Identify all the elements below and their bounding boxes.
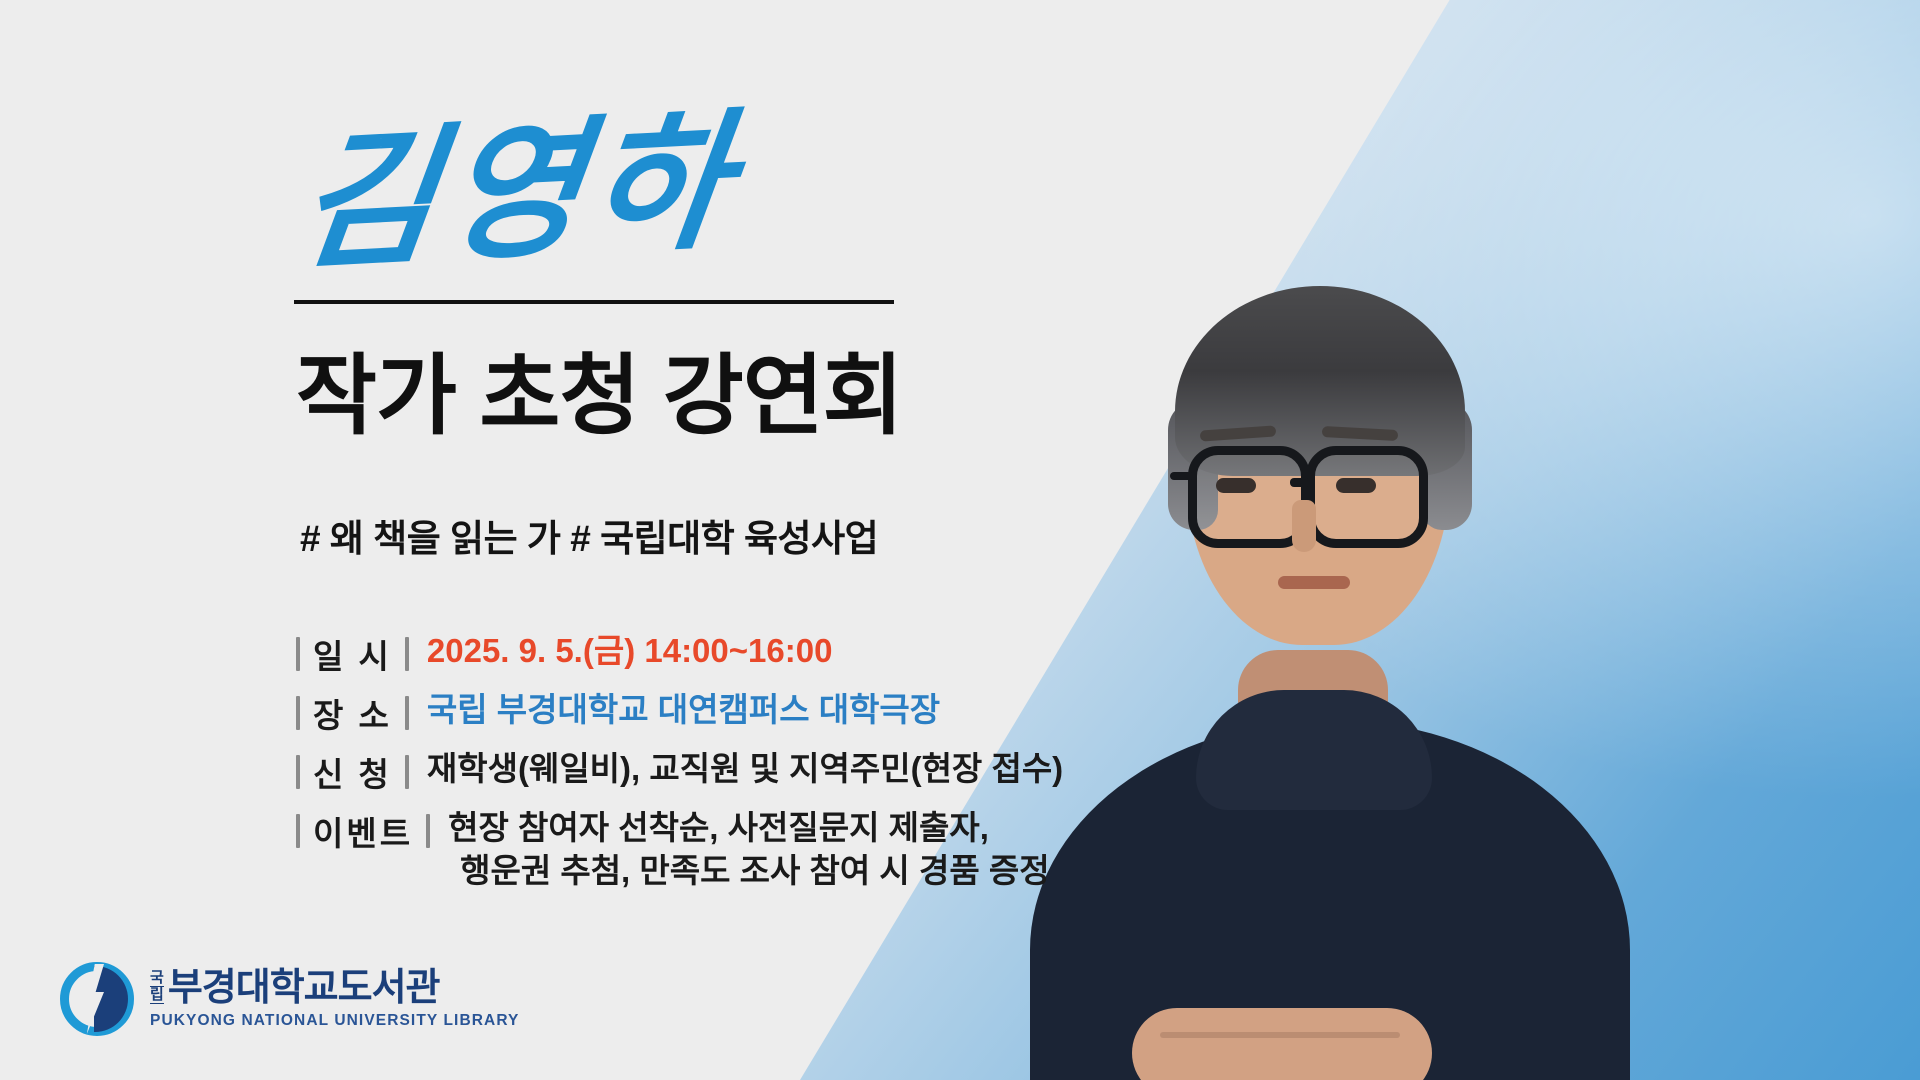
signature-underline-rule [294,300,894,304]
portrait-turtleneck-collar [1196,690,1432,810]
divider-bar-right [405,637,409,671]
portrait-eyeglasses-right-lens [1306,446,1428,548]
logo-english-name: PUKYONG NATIONAL UNIVERSITY LIBRARY [150,1012,519,1030]
speaker-name-handwritten: 김영하 [289,107,743,279]
divider-bar-right [405,755,409,789]
logo-korean-name: 부경대학교도서관 [168,969,440,1007]
portrait-clasped-hands [1132,1008,1432,1080]
detail-value-place: 국립 부경대학교 대연캠퍼스 대학극장 [427,689,940,732]
portrait-finger-line [1160,1032,1400,1038]
logo-prefix-line1: 국 [150,970,164,987]
portrait-nose [1292,500,1316,552]
portrait-eyeglasses-temple [1170,472,1194,480]
detail-label-text: 이벤트 [300,807,426,855]
detail-row-event: 이벤트 현장 참여자 선착순, 사전질문지 제출자, 행운권 추첨, 만족도 조… [296,807,996,893]
detail-label-text: 일 시 [300,630,405,678]
portrait-eyeglasses-bridge [1290,478,1310,487]
detail-row-place: 장 소 국립 부경대학교 대연캠퍼스 대학극장 [296,689,996,737]
page-title: 작가 초청 강연회 [296,350,903,442]
logo-korean-row: 국 립 부경대학교도서관 [150,969,519,1007]
detail-label-application: 신 청 [296,748,409,796]
detail-label-datetime: 일 시 [296,630,409,678]
divider-bar-right [405,696,409,730]
logo-prefix-line2: 립 [150,987,164,1004]
logo-national-prefix: 국 립 [150,970,164,1007]
detail-value-event-line1: 현장 참여자 선착순, 사전질문지 제출자, [448,809,989,846]
detail-value-event: 현장 참여자 선착순, 사전질문지 제출자, 행운권 추첨, 만족도 조사 참여… [448,807,1049,893]
detail-label-text: 장 소 [300,689,405,737]
hashtag-subtitle: # 왜 책을 읽는 가 # 국립대학 육성사업 [300,508,878,562]
logo-wordmark: 국 립 부경대학교도서관 PUKYONG NATIONAL UNIVERSITY… [150,969,519,1030]
pukyong-library-emblem-icon [60,962,134,1036]
detail-label-place: 장 소 [296,689,409,737]
portrait-mouth [1278,576,1350,589]
detail-row-application: 신 청 재학생(웨일비), 교직원 및 지역주민(현장 접수) [296,748,996,796]
speaker-portrait-photo [1010,250,1630,1080]
detail-value-event-line2: 행운권 추첨, 만족도 조사 참여 시 경품 증정 [448,850,1049,893]
poster-content: 김영하 작가 초청 강연회 # 왜 책을 읽는 가 # 국립대학 육성사업 일 … [0,0,1010,1080]
divider-bar-right [426,814,430,848]
library-logo: 국 립 부경대학교도서관 PUKYONG NATIONAL UNIVERSITY… [60,962,519,1036]
detail-label-event: 이벤트 [296,807,430,855]
detail-value-datetime: 2025. 9. 5.(금) 14:00~16:00 [427,630,833,673]
event-poster: 김영하 작가 초청 강연회 # 왜 책을 읽는 가 # 국립대학 육성사업 일 … [0,0,1920,1080]
detail-value-application: 재학생(웨일비), 교직원 및 지역주민(현장 접수) [427,748,1063,791]
event-details-list: 일 시 2025. 9. 5.(금) 14:00~16:00 장 소 국립 부경… [296,630,996,904]
detail-label-text: 신 청 [300,748,405,796]
detail-row-datetime: 일 시 2025. 9. 5.(금) 14:00~16:00 [296,630,996,678]
